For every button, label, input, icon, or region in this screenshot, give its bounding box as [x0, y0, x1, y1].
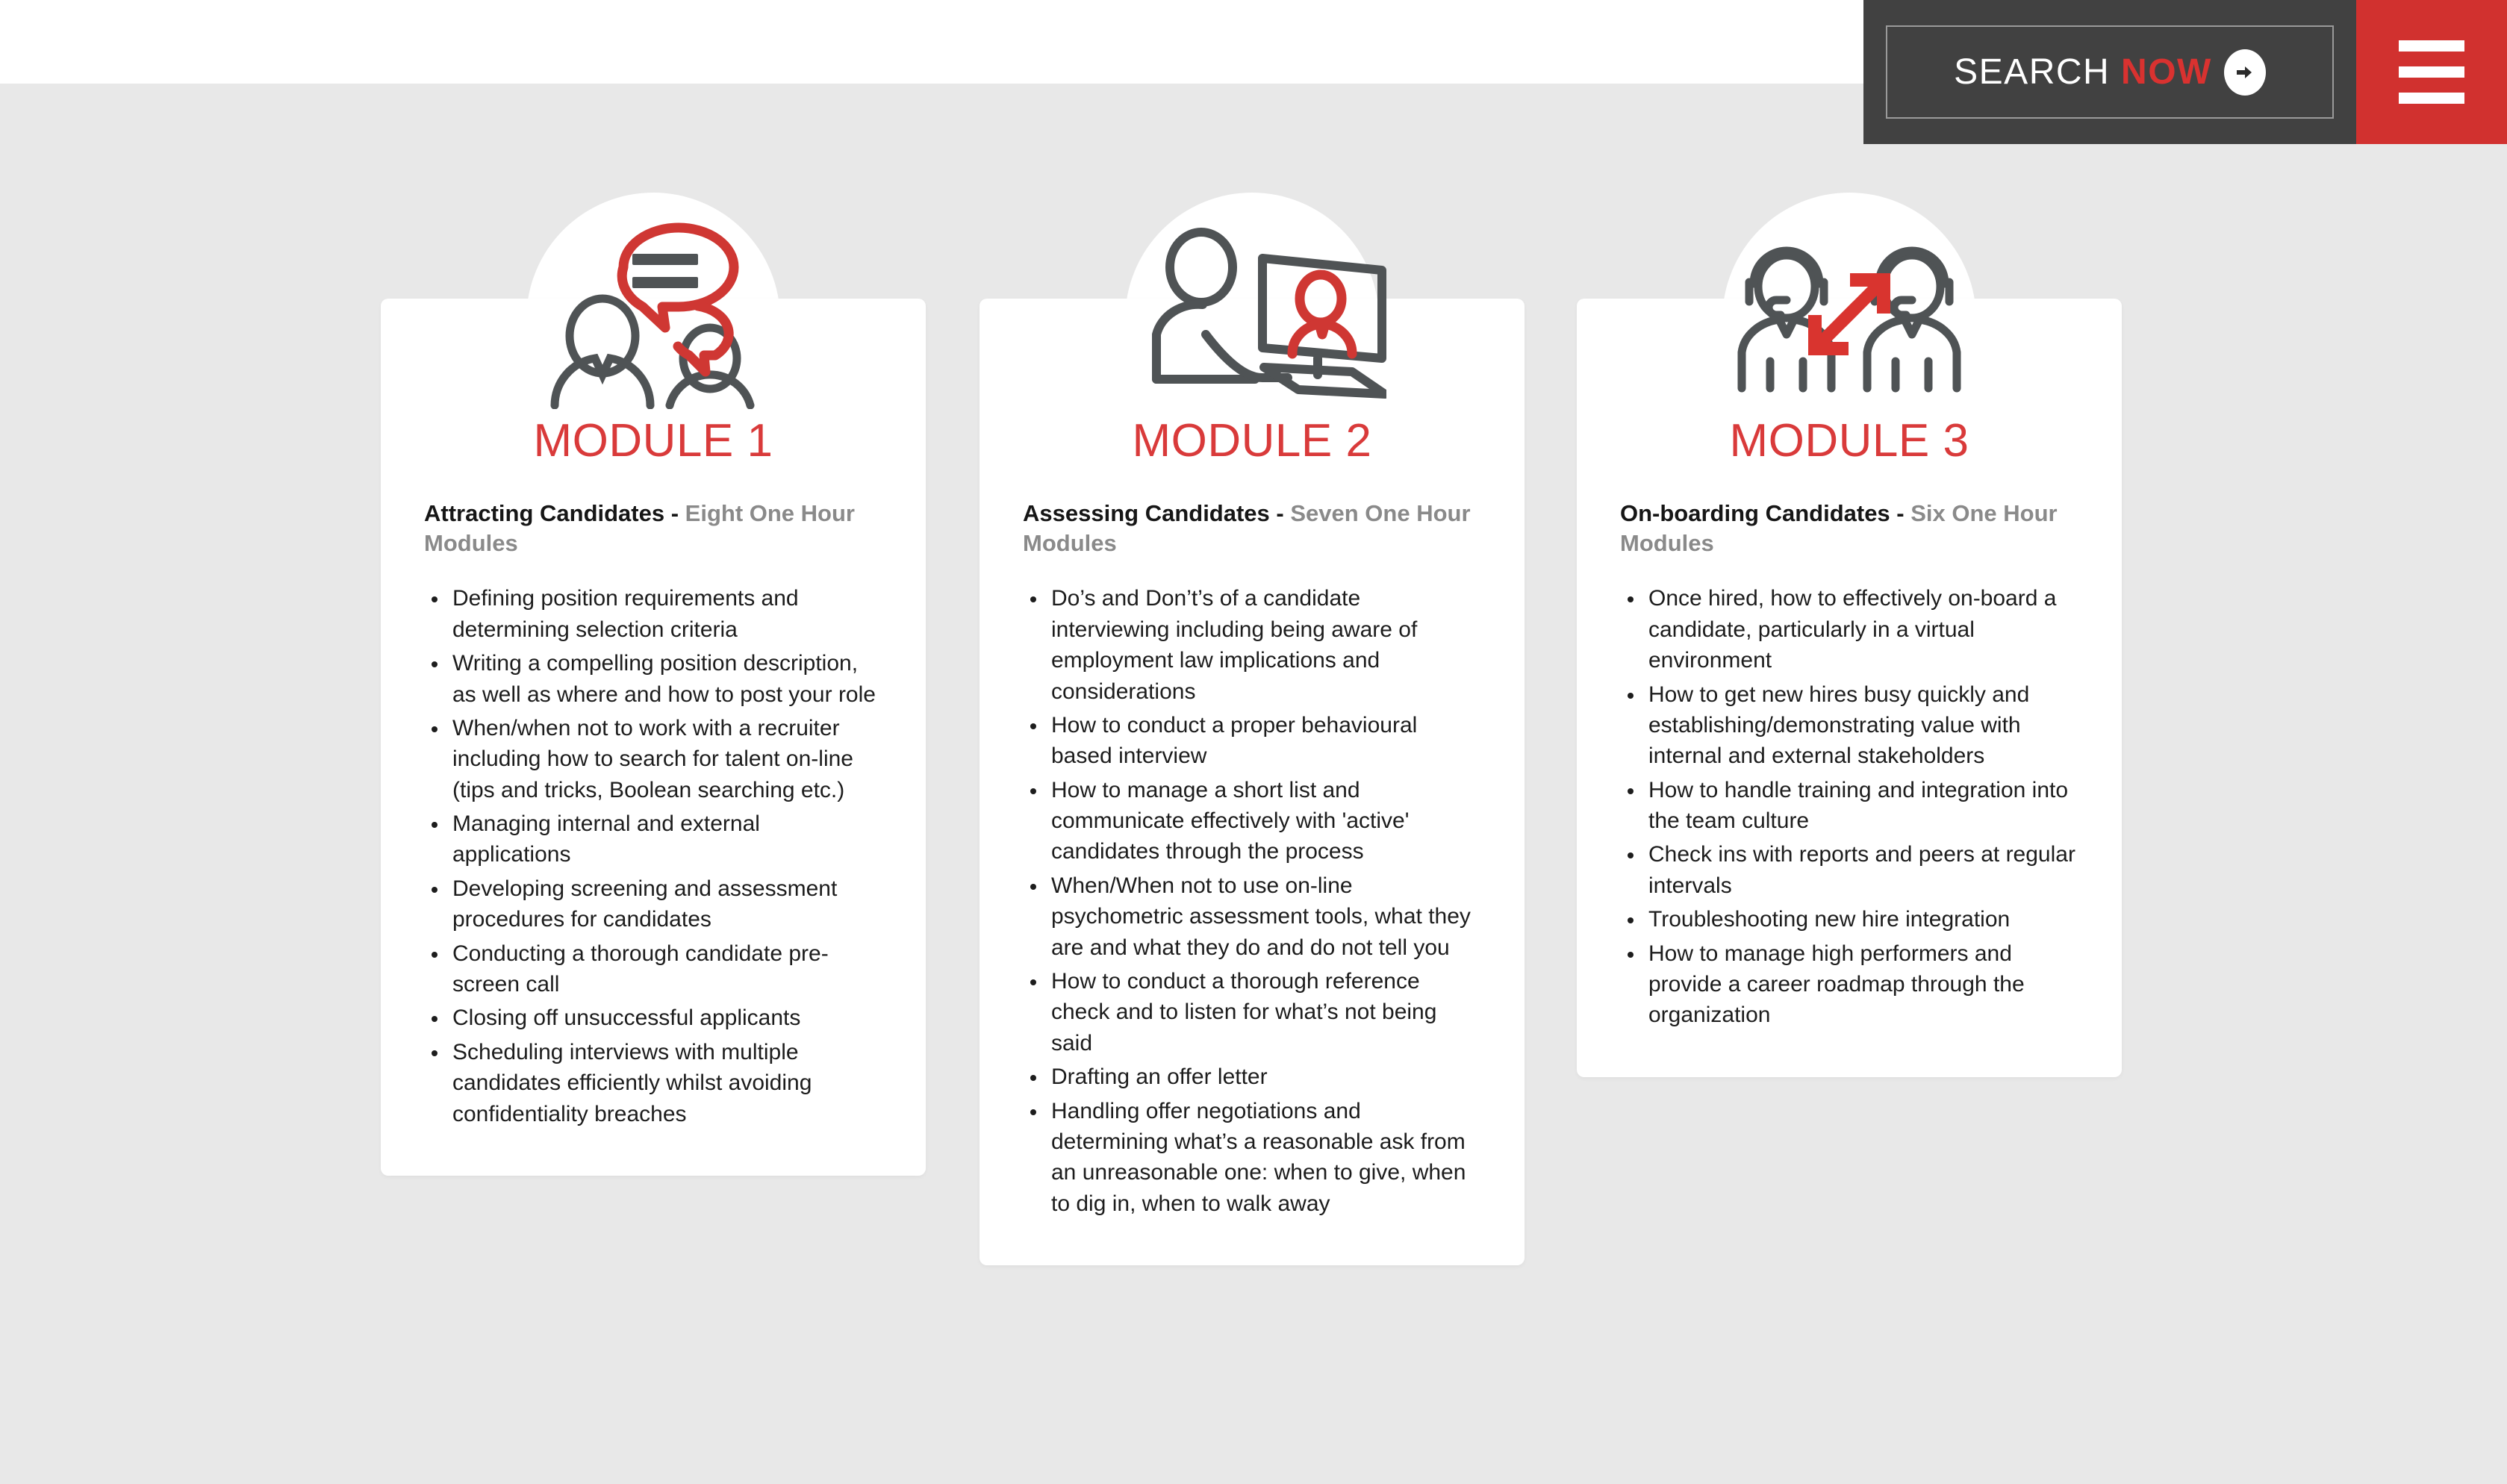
search-now-button[interactable]: SEARCH NOW [1886, 25, 2334, 119]
search-now-label-primary: SEARCH [1954, 52, 2110, 92]
list-item: How to handle training and integration i… [1620, 775, 2078, 837]
hamburger-menu-icon[interactable] [2356, 0, 2507, 144]
module-subtitle-3: On-boarding Candidates - Six One Hour Mo… [1620, 499, 2078, 558]
list-item: When/when not to work with a recruiter i… [424, 713, 882, 805]
list-item: Closing off unsuccessful applicants [424, 1003, 882, 1033]
list-item: How to get new hires busy quickly and es… [1620, 679, 2078, 772]
module-bullet-list-2: Do’s and Don’t’s of a candidate intervie… [1023, 583, 1481, 1219]
list-item: Do’s and Don’t’s of a candidate intervie… [1023, 583, 1481, 707]
two-people-speech-bubble-icon [504, 215, 803, 417]
site-header: SEARCH NOW [1863, 0, 2507, 144]
modules-section: MODULE 1 Attracting Candidates - Eight O… [0, 0, 2507, 1484]
list-item: How to conduct a thorough reference chec… [1023, 966, 1481, 1059]
list-item: Managing internal and external applicati… [424, 808, 882, 870]
module-title-3: MODULE 3 [1620, 418, 2078, 464]
module-card-3: MODULE 3 On-boarding Candidates - Six On… [1577, 193, 2122, 1077]
list-item: When/When not to use on-line psychometri… [1023, 870, 1481, 963]
search-now-bar: SEARCH NOW [1863, 0, 2356, 144]
list-item: Check ins with reports and peers at regu… [1620, 839, 2078, 901]
module-subtitle-1: Attracting Candidates - Eight One Hour M… [424, 499, 882, 558]
arrow-right-circle-icon [2224, 49, 2266, 96]
hamburger-bar-2 [2399, 66, 2464, 78]
module-title-2: MODULE 2 [1023, 418, 1481, 464]
list-item: Defining position requirements and deter… [424, 583, 882, 645]
search-now-label: SEARCH NOW [1954, 52, 2212, 93]
module-subtitle-bold-2: Assessing Candidates - [1023, 500, 1290, 526]
person-at-computer-video-interview-icon [1103, 215, 1401, 417]
module-card-1: MODULE 1 Attracting Candidates - Eight O… [381, 193, 926, 1176]
list-item: How to manage high performers and provid… [1620, 938, 2078, 1031]
module-subtitle-2: Assessing Candidates - Seven One Hour Mo… [1023, 499, 1481, 558]
hamburger-bar-1 [2399, 40, 2464, 52]
module-subtitle-bold-3: On-boarding Candidates - [1620, 500, 1910, 526]
search-now-label-accent: NOW [2121, 52, 2212, 92]
module-card-2: MODULE 2 Assessing Candidates - Seven On… [980, 193, 1525, 1265]
list-item: How to conduct a proper behavioural base… [1023, 710, 1481, 772]
list-item: Drafting an offer letter [1023, 1061, 1481, 1092]
module-bullet-list-1: Defining position requirements and deter… [424, 583, 882, 1129]
list-item: Handling offer negotiations and determin… [1023, 1096, 1481, 1220]
two-people-headsets-exchange-arrows-icon [1700, 215, 1999, 417]
module-bullet-list-3: Once hired, how to effectively on-board … [1620, 583, 2078, 1030]
list-item: Conducting a thorough candidate pre-scre… [424, 938, 882, 1000]
list-item: Writing a compelling position descriptio… [424, 648, 882, 710]
list-item: Once hired, how to effectively on-board … [1620, 583, 2078, 676]
module-card-body-2: MODULE 2 Assessing Candidates - Seven On… [980, 299, 1525, 1265]
list-item: Troubleshooting new hire integration [1620, 904, 2078, 935]
list-item: Developing screening and assessment proc… [424, 873, 882, 935]
list-item: Scheduling interviews with multiple cand… [424, 1037, 882, 1129]
module-card-body-1: MODULE 1 Attracting Candidates - Eight O… [381, 299, 926, 1176]
list-item: How to manage a short list and communica… [1023, 775, 1481, 867]
module-title-1: MODULE 1 [424, 418, 882, 464]
hamburger-bar-3 [2399, 93, 2464, 104]
module-subtitle-bold-1: Attracting Candidates - [424, 500, 685, 526]
